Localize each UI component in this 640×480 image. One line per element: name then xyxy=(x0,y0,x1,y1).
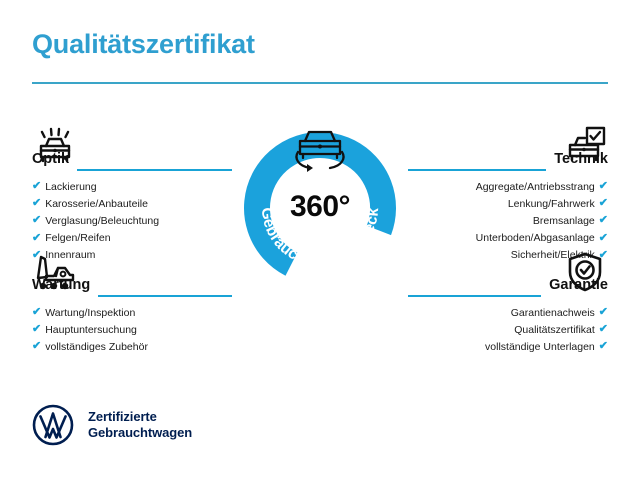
list-item-label: Aggregate/Antriebsstrang xyxy=(476,180,595,194)
check-icon: ✔ xyxy=(599,324,608,335)
section-wartung-rule xyxy=(98,295,232,297)
list-item: ✔ Qualitätszertifikat xyxy=(514,323,608,337)
check-icon: ✔ xyxy=(599,181,608,192)
list-item: ✔ Karosserie/Anbauteile xyxy=(32,197,148,211)
section-technik-rule xyxy=(408,169,546,171)
car-service-pencil-icon xyxy=(32,252,78,292)
header: Qualitätszertifikat xyxy=(32,30,608,84)
list-item: ✔ vollständiges Zubehör xyxy=(32,340,148,354)
list-item: ✔ Lenkung/Fahrwerk xyxy=(508,197,608,211)
car-headlights-icon xyxy=(32,126,78,166)
check-icon: ✔ xyxy=(599,233,608,244)
badge-360-gebrauchtwagen-check: Gebrauchtwagen-Check 360° xyxy=(240,128,400,288)
section-garantie: Garantie ✔ Garantienachweis ✔ Qualitätsz… xyxy=(408,278,608,354)
check-icon: ✔ xyxy=(599,341,608,352)
check-icon: ✔ xyxy=(32,215,41,226)
list-item-label: Garantienachweis xyxy=(511,306,595,320)
volkswagen-logo xyxy=(32,404,74,446)
badge-degrees-label: 360° xyxy=(240,190,400,224)
page-title: Qualitätszertifikat xyxy=(32,30,608,60)
list-item: ✔ Aggregate/Antriebsstrang xyxy=(476,180,608,194)
list-item-label: vollständige Unterlagen xyxy=(485,340,595,354)
section-technik: Technik ✔ Aggregate/Antriebsstrang ✔ Len… xyxy=(408,152,608,262)
check-icon: ✔ xyxy=(32,341,41,352)
list-item-label: vollständiges Zubehör xyxy=(45,340,148,354)
list-item: ✔ Hauptuntersuchung xyxy=(32,323,137,337)
header-divider xyxy=(32,82,608,84)
list-item: ✔ Lackierung xyxy=(32,180,97,194)
check-icon: ✔ xyxy=(32,307,41,318)
list-item-label: Bremsanlage xyxy=(533,214,595,228)
section-optik: Optik ✔ Lackierung ✔ Karosserie/Anbautei… xyxy=(32,152,232,262)
car-checkbox-icon xyxy=(562,126,608,166)
certificate-page: Qualitätszertifikat xyxy=(0,0,640,480)
section-garantie-rule xyxy=(408,295,541,297)
section-wartung: Wartung ✔ Wartung/Inspektion ✔ Hauptunte… xyxy=(32,278,232,354)
section-technik-list: ✔ Aggregate/Antriebsstrang ✔ Lenkung/Fah… xyxy=(408,180,608,263)
check-icon: ✔ xyxy=(599,307,608,318)
footer-brand-lockup: Zertifizierte Gebrauchtwagen xyxy=(32,404,192,446)
footer-brand-text: Zertifizierte Gebrauchtwagen xyxy=(88,409,192,442)
list-item-label: Qualitätszertifikat xyxy=(514,323,595,337)
list-item: ✔ Unterboden/Abgasanlage xyxy=(476,231,608,245)
list-item: ✔ Bremsanlage xyxy=(533,214,608,228)
section-optik-rule xyxy=(77,169,232,171)
list-item: ✔ vollständige Unterlagen xyxy=(485,340,608,354)
footer-brand-line1: Zertifizierte xyxy=(88,409,192,425)
section-wartung-list: ✔ Wartung/Inspektion ✔ Hauptuntersuchung… xyxy=(32,306,232,355)
section-optik-list: ✔ Lackierung ✔ Karosserie/Anbauteile ✔ V… xyxy=(32,180,232,263)
check-icon: ✔ xyxy=(32,198,41,209)
list-item-label: Karosserie/Anbauteile xyxy=(45,197,148,211)
list-item: ✔ Verglasung/Beleuchtung xyxy=(32,214,159,228)
list-item: ✔ Garantienachweis xyxy=(511,306,608,320)
footer-brand-line2: Gebrauchtwagen xyxy=(88,425,192,441)
list-item-label: Felgen/Reifen xyxy=(45,231,110,245)
check-icon: ✔ xyxy=(32,233,41,244)
list-item-label: Verglasung/Beleuchtung xyxy=(45,214,159,228)
list-item-label: Hauptuntersuchung xyxy=(45,323,137,337)
section-garantie-list: ✔ Garantienachweis ✔ Qualitätszertifikat… xyxy=(408,306,608,355)
check-icon: ✔ xyxy=(599,198,608,209)
list-item: ✔ Felgen/Reifen xyxy=(32,231,111,245)
check-icon: ✔ xyxy=(32,324,41,335)
list-item-label: Unterboden/Abgasanlage xyxy=(476,231,595,245)
shield-check-icon xyxy=(562,252,608,292)
check-icon: ✔ xyxy=(599,215,608,226)
list-item-label: Wartung/Inspektion xyxy=(45,306,135,320)
list-item-label: Lackierung xyxy=(45,180,96,194)
list-item: ✔ Wartung/Inspektion xyxy=(32,306,135,320)
check-icon: ✔ xyxy=(32,181,41,192)
car-rotate-icon xyxy=(288,122,352,176)
list-item-label: Lenkung/Fahrwerk xyxy=(508,197,595,211)
